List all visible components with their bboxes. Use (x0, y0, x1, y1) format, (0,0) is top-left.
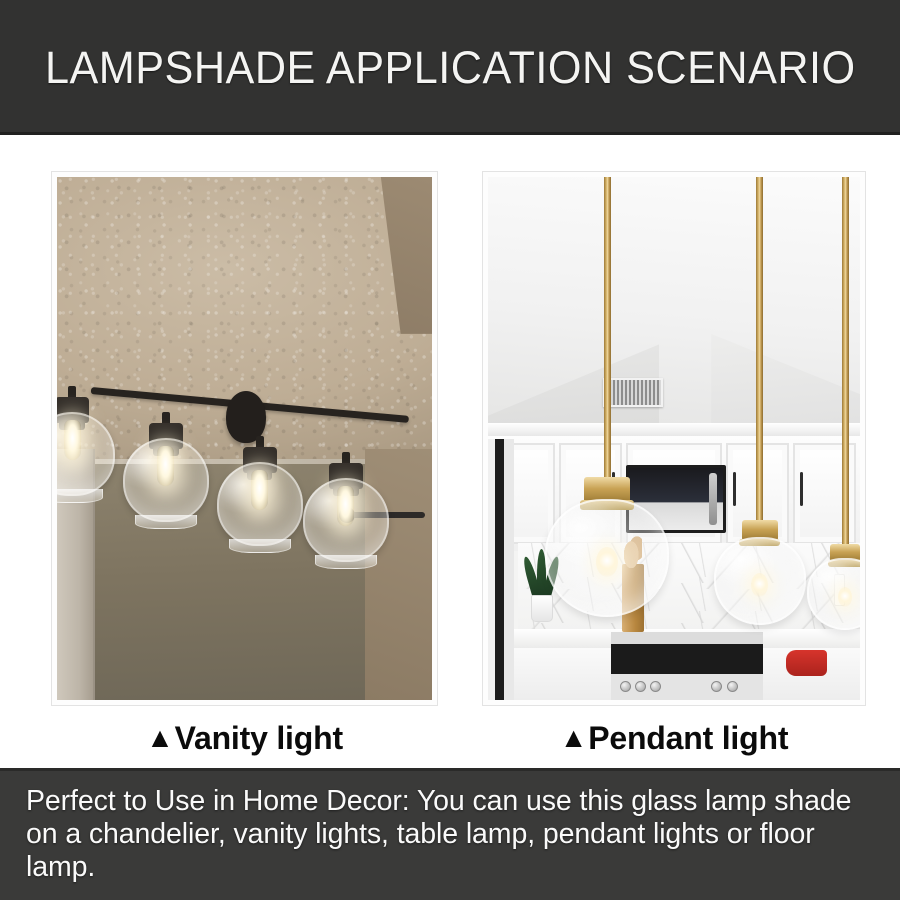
range-knob (620, 681, 631, 692)
light-bulb (751, 573, 768, 597)
oven-mitt (786, 650, 827, 676)
ceiling-vent (603, 378, 663, 407)
cabinet-handle (733, 472, 736, 506)
caption-pendant-light: ▲ Pendant light (483, 712, 865, 764)
light-bulb (157, 446, 174, 486)
refrigerator (488, 439, 514, 701)
globe-rim (57, 489, 103, 503)
cooktop-range (611, 632, 764, 700)
pendant-rod (842, 177, 849, 549)
vanity-light-photo (57, 177, 432, 700)
photo-panel-vanity (52, 172, 437, 705)
caption-label: Pendant light (588, 720, 788, 757)
light-bulb (337, 486, 354, 526)
globe-rim (315, 555, 377, 569)
globe-rim (135, 515, 197, 529)
globe-rim (229, 539, 291, 553)
caption-label: Vanity light (175, 720, 343, 757)
light-bulb (251, 470, 268, 510)
range-knob (635, 681, 646, 692)
range-knob (711, 681, 722, 692)
pendant-rod (604, 177, 611, 482)
light-bulb (64, 420, 81, 460)
caption-vanity-light: ▲ Vanity light (52, 712, 437, 764)
triangle-marker-icon: ▲ (560, 722, 588, 754)
range-knob (727, 681, 738, 692)
light-bulb (596, 547, 618, 577)
triangle-marker-icon: ▲ (146, 722, 174, 754)
photo-panel-pendant (483, 172, 865, 705)
pendant-rod (756, 177, 763, 525)
header-banner: LAMPSHADE APPLICATION SCENARIO (0, 0, 900, 135)
light-bulb (838, 587, 852, 607)
plant-pot (531, 595, 552, 621)
range-knob (650, 681, 661, 692)
shower-wall (365, 449, 433, 700)
page-title: LAMPSHADE APPLICATION SCENARIO (45, 44, 856, 92)
description-text: Perfect to Use in Home Decor: You can us… (26, 785, 874, 884)
footer-banner: Perfect to Use in Home Decor: You can us… (0, 768, 900, 900)
pendant-light-photo (488, 177, 860, 700)
cabinet-handle (800, 472, 803, 506)
